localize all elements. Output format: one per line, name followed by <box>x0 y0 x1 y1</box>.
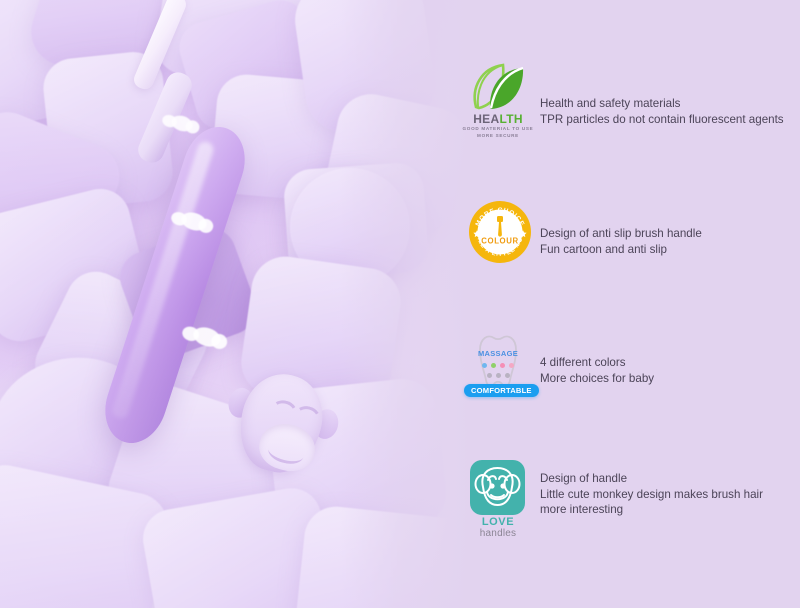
seal-center-label: COLOUR <box>481 237 518 246</box>
love-handles-badge: LOVE handles <box>462 460 534 542</box>
feature-line: Design of anti slip brush handle <box>540 226 702 242</box>
product-feature-banner: HEALTH GOOD MATERIAL TO USE MORE SECURE … <box>0 0 800 608</box>
comfortable-pill: COMFORTABLE <box>464 384 539 397</box>
feature-list: HEALTH GOOD MATERIAL TO USE MORE SECURE … <box>462 0 800 608</box>
monkey-head <box>230 366 331 480</box>
leaf-icon <box>469 62 527 114</box>
feature-line: Design of handle <box>540 471 763 487</box>
massage-label: MASSAGE <box>462 349 534 358</box>
gray-dot <box>496 373 501 378</box>
feature-line: Health and safety materials <box>540 96 784 112</box>
feature-line: Fun cartoon and anti slip <box>540 242 702 258</box>
feature-badge: HEALTH GOOD MATERIAL TO USE MORE SECURE <box>462 62 534 140</box>
feature-anti-slip: MORE CHOICE SMILE A LITTLE MORE COLOUR D… <box>462 200 702 264</box>
health-word-part1: HEA <box>473 112 499 126</box>
monkey-face-relief-icon <box>215 357 344 497</box>
health-badge: HEALTH GOOD MATERIAL TO USE MORE SECURE <box>462 62 534 140</box>
feature-line: TPR particles do not contain fluorescent… <box>540 112 784 128</box>
toothbrush <box>95 0 355 570</box>
feature-health: HEALTH GOOD MATERIAL TO USE MORE SECURE … <box>462 62 784 140</box>
feature-badge: MASSAGE COMFORTABLE <box>462 330 534 406</box>
feature-colors: MASSAGE COMFORTABLE 4 di <box>462 330 654 406</box>
color-dot <box>509 363 514 368</box>
gold-seal-icon: MORE CHOICE SMILE A LITTLE MORE COLOUR <box>468 200 532 264</box>
tooth-badge: MASSAGE COMFORTABLE <box>462 330 534 406</box>
product-photo <box>0 0 470 608</box>
feature-line: more interesting <box>540 502 763 518</box>
love-label: LOVE <box>462 516 534 528</box>
feature-badge: MORE CHOICE SMILE A LITTLE MORE COLOUR <box>462 200 534 264</box>
more-choice-seal-badge: MORE CHOICE SMILE A LITTLE MORE COLOUR <box>468 200 532 264</box>
feature-badge: LOVE handles <box>462 460 534 542</box>
color-dot <box>482 363 487 368</box>
monkey-face-icon <box>470 460 525 515</box>
health-subtext-line1: GOOD MATERIAL TO USE <box>462 126 534 131</box>
gray-dot <box>487 373 492 378</box>
feature-text: Design of anti slip brush handle Fun car… <box>540 200 702 257</box>
health-wordmark: HEALTH <box>462 112 534 126</box>
color-dot <box>500 363 505 368</box>
feature-line: 4 different colors <box>540 355 654 371</box>
feature-text: Design of handle Little cute monkey desi… <box>540 460 763 518</box>
feature-text: Health and safety materials TPR particle… <box>540 62 784 127</box>
cloud-grip-icon <box>191 324 223 350</box>
feature-line: Little cute monkey design makes brush ha… <box>540 487 763 503</box>
handles-label: handles <box>462 528 534 539</box>
health-subtext-line2: MORE SECURE <box>462 133 534 138</box>
color-dots-row <box>462 363 534 368</box>
health-word-part2: LTH <box>499 112 522 126</box>
feature-text: 4 different colors More choices for baby <box>540 330 654 386</box>
feature-handle: LOVE handles Design of handle Little cut… <box>462 460 763 542</box>
gray-dots-row <box>462 373 534 378</box>
monkey-tile <box>470 460 525 515</box>
gray-dot <box>505 373 510 378</box>
feature-line: More choices for baby <box>540 371 654 387</box>
color-dot <box>491 363 496 368</box>
